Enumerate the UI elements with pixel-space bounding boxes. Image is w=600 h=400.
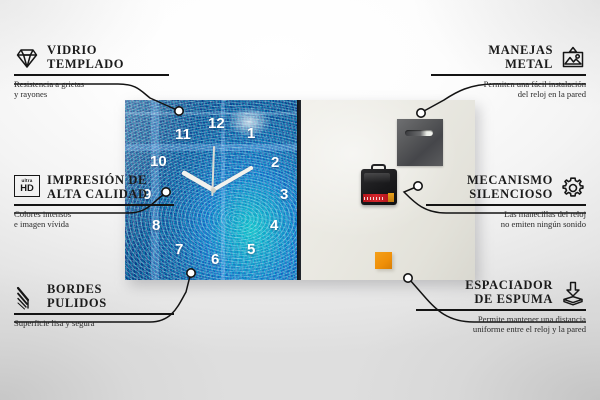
feature-title: ESPACIADOR DE ESPUMA	[465, 279, 553, 306]
feature-metal-handles: MANEJAS METAL Permiten una fácil instala…	[431, 44, 586, 99]
feature-description: Permiten una fácil instalación del reloj…	[431, 79, 586, 100]
feature-rule	[14, 204, 174, 206]
clock-mechanism-box	[361, 169, 397, 205]
clock-center-pin	[211, 188, 216, 193]
hanger-slot	[405, 130, 433, 136]
feature-title: IMPRESIÓN DE ALTA CALIDAD	[47, 174, 148, 201]
foam-spacer	[375, 252, 392, 269]
clock-numeral-4: 4	[270, 218, 278, 233]
gear-icon	[560, 175, 586, 201]
clock-numeral-5: 5	[247, 242, 255, 257]
feature-rule	[14, 74, 169, 76]
mechanism-hook	[371, 164, 386, 170]
feature-rule	[416, 309, 586, 311]
feature-rule	[426, 204, 586, 206]
mechanism-gloss	[364, 173, 390, 183]
feature-rule	[14, 313, 174, 315]
feature-header: VIDRIO TEMPLADO	[14, 44, 169, 71]
picture-frame-icon	[560, 45, 586, 71]
feature-header: BORDES PULIDOS	[14, 283, 174, 310]
mechanism-battery-marker	[388, 193, 394, 202]
press-down-pad-icon	[560, 280, 586, 306]
feature-foam-spacer: ESPACIADOR DE ESPUMA Permite mantener un…	[416, 279, 586, 334]
feature-description: Superficie lisa y segura	[14, 318, 174, 328]
feature-rule	[431, 74, 586, 76]
feature-header: MANEJAS METAL	[431, 44, 586, 71]
feature-header: ultra HD IMPRESIÓN DE ALTA CALIDAD	[14, 174, 174, 201]
infographic-canvas: 12 1 2 3 4 5 6 7 8 9 10 11	[0, 0, 600, 400]
diamond-icon	[14, 45, 40, 71]
feature-title: MANEJAS METAL	[488, 44, 553, 71]
feature-title: VIDRIO TEMPLADO	[47, 44, 124, 71]
clock-numeral-7: 7	[175, 242, 183, 257]
clock-numeral-12: 12	[208, 116, 225, 131]
clock-numeral-2: 2	[271, 155, 279, 170]
clock-numeral-10: 10	[150, 154, 167, 169]
feature-header: ESPACIADOR DE ESPUMA	[416, 279, 586, 306]
clock-numeral-1: 1	[247, 126, 255, 141]
mechanism-label-text	[364, 197, 384, 200]
feature-hd-print: ultra HD IMPRESIÓN DE ALTA CALIDAD Color…	[14, 174, 174, 229]
clock-numeral-6: 6	[211, 252, 219, 267]
metal-hanger-plate	[397, 119, 443, 166]
feature-description: Resistencia a grietas y rayones	[14, 79, 169, 100]
clock-numeral-11: 11	[175, 127, 191, 142]
product-image: 12 1 2 3 4 5 6 7 8 9 10 11	[125, 100, 475, 280]
ultra-hd-icon: ultra HD	[14, 175, 40, 201]
clock-numeral-3: 3	[280, 187, 288, 202]
feature-header: MECANISMO SILENCIOSO	[426, 174, 586, 201]
polished-edge-lines-icon	[14, 284, 40, 310]
feature-description: Las manecillas del reloj no emiten ningú…	[426, 209, 586, 230]
feature-title: MECANISMO SILENCIOSO	[467, 174, 553, 201]
feature-description: Permite mantener una distancia uniforme …	[416, 314, 586, 335]
feature-description: Colores intensos e imagen vívida	[14, 209, 174, 230]
feature-silent-mechanism: MECANISMO SILENCIOSO Las manecillas del …	[426, 174, 586, 229]
feature-tempered-glass: VIDRIO TEMPLADO Resistencia a grietas y …	[14, 44, 169, 99]
feature-polished-edges: BORDES PULIDOS Superficie lisa y segura	[14, 283, 174, 328]
feature-title: BORDES PULIDOS	[47, 283, 107, 310]
